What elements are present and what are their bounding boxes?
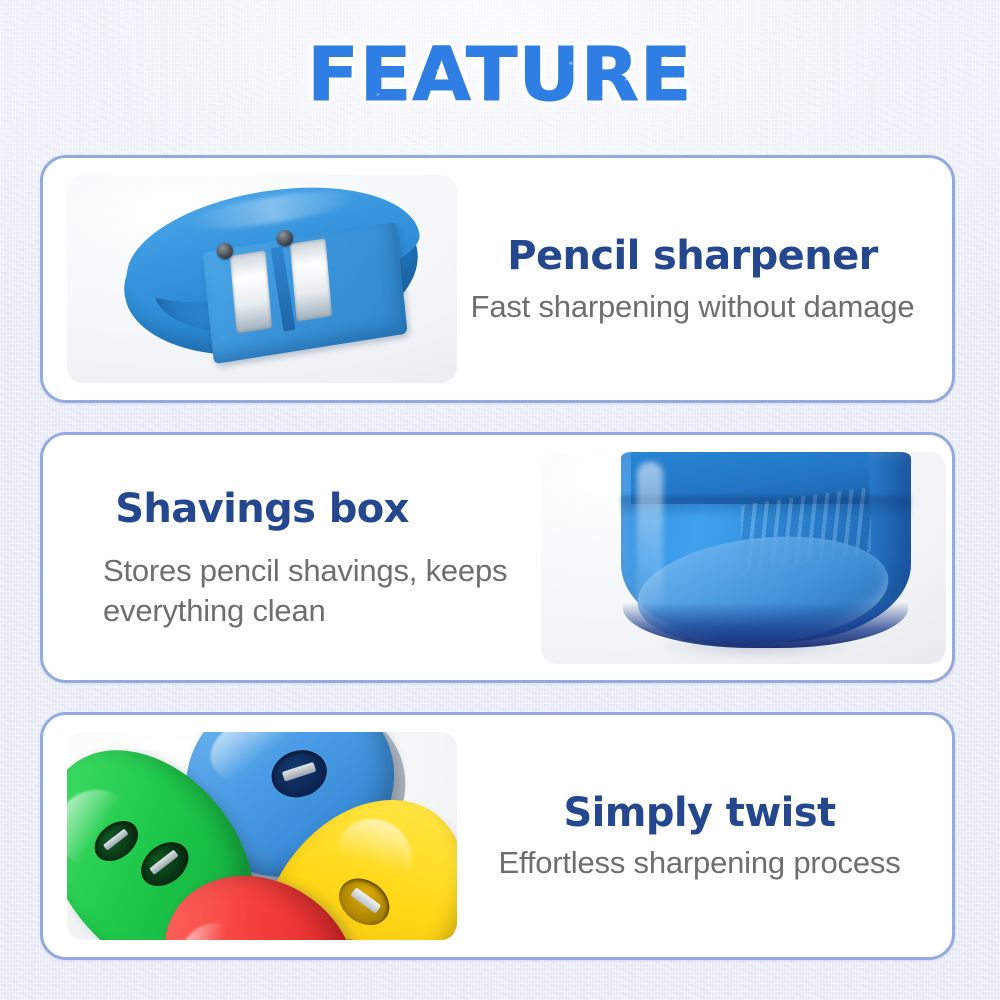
feature-card-simply-twist: Simply twist Effortless sharpening proce… [40,712,955,960]
sharpener-screw-1 [217,243,233,259]
sharpener-hole [133,833,197,895]
feature-description: Fast sharpening without damage [467,287,918,327]
infographic-page: FEATURE Pencil sharpener Fast sharpening… [0,0,1000,1000]
feature-heading: Pencil sharpener [467,232,918,280]
feature-description: Effortless sharpening process [477,843,922,883]
feature-card-pencil-sharpener: Pencil sharpener Fast sharpening without… [40,155,955,403]
feature-text-shavings-box: Shavings box Stores pencil shavings, kee… [43,485,541,631]
sharpener-blade [150,850,179,875]
feature-image-simply-twist [67,732,457,940]
shavings-box-gloss [637,462,663,612]
gloss-highlight [165,911,256,940]
sharpener-blade-1 [230,250,272,334]
page-title: FEATURE [307,38,692,112]
feature-text-pencil-sharpener: Pencil sharpener Fast sharpening without… [457,232,952,327]
sharpener-hole [241,935,302,940]
feature-heading: Shavings box [103,485,531,533]
sharpener-blade-2 [290,238,332,322]
sharpener-screw-2 [277,230,293,246]
feature-text-simply-twist: Simply twist Effortless sharpening proce… [457,789,952,883]
feature-card-shavings-box: Shavings box Stores pencil shavings, kee… [40,432,955,683]
page-title-container: FEATURE [0,38,1000,112]
feature-description: Stores pencil shavings, keeps everything… [103,551,531,631]
feature-heading: Simply twist [477,789,922,837]
feature-image-pencil-sharpener [67,175,457,383]
feature-image-shavings-box [541,452,946,664]
